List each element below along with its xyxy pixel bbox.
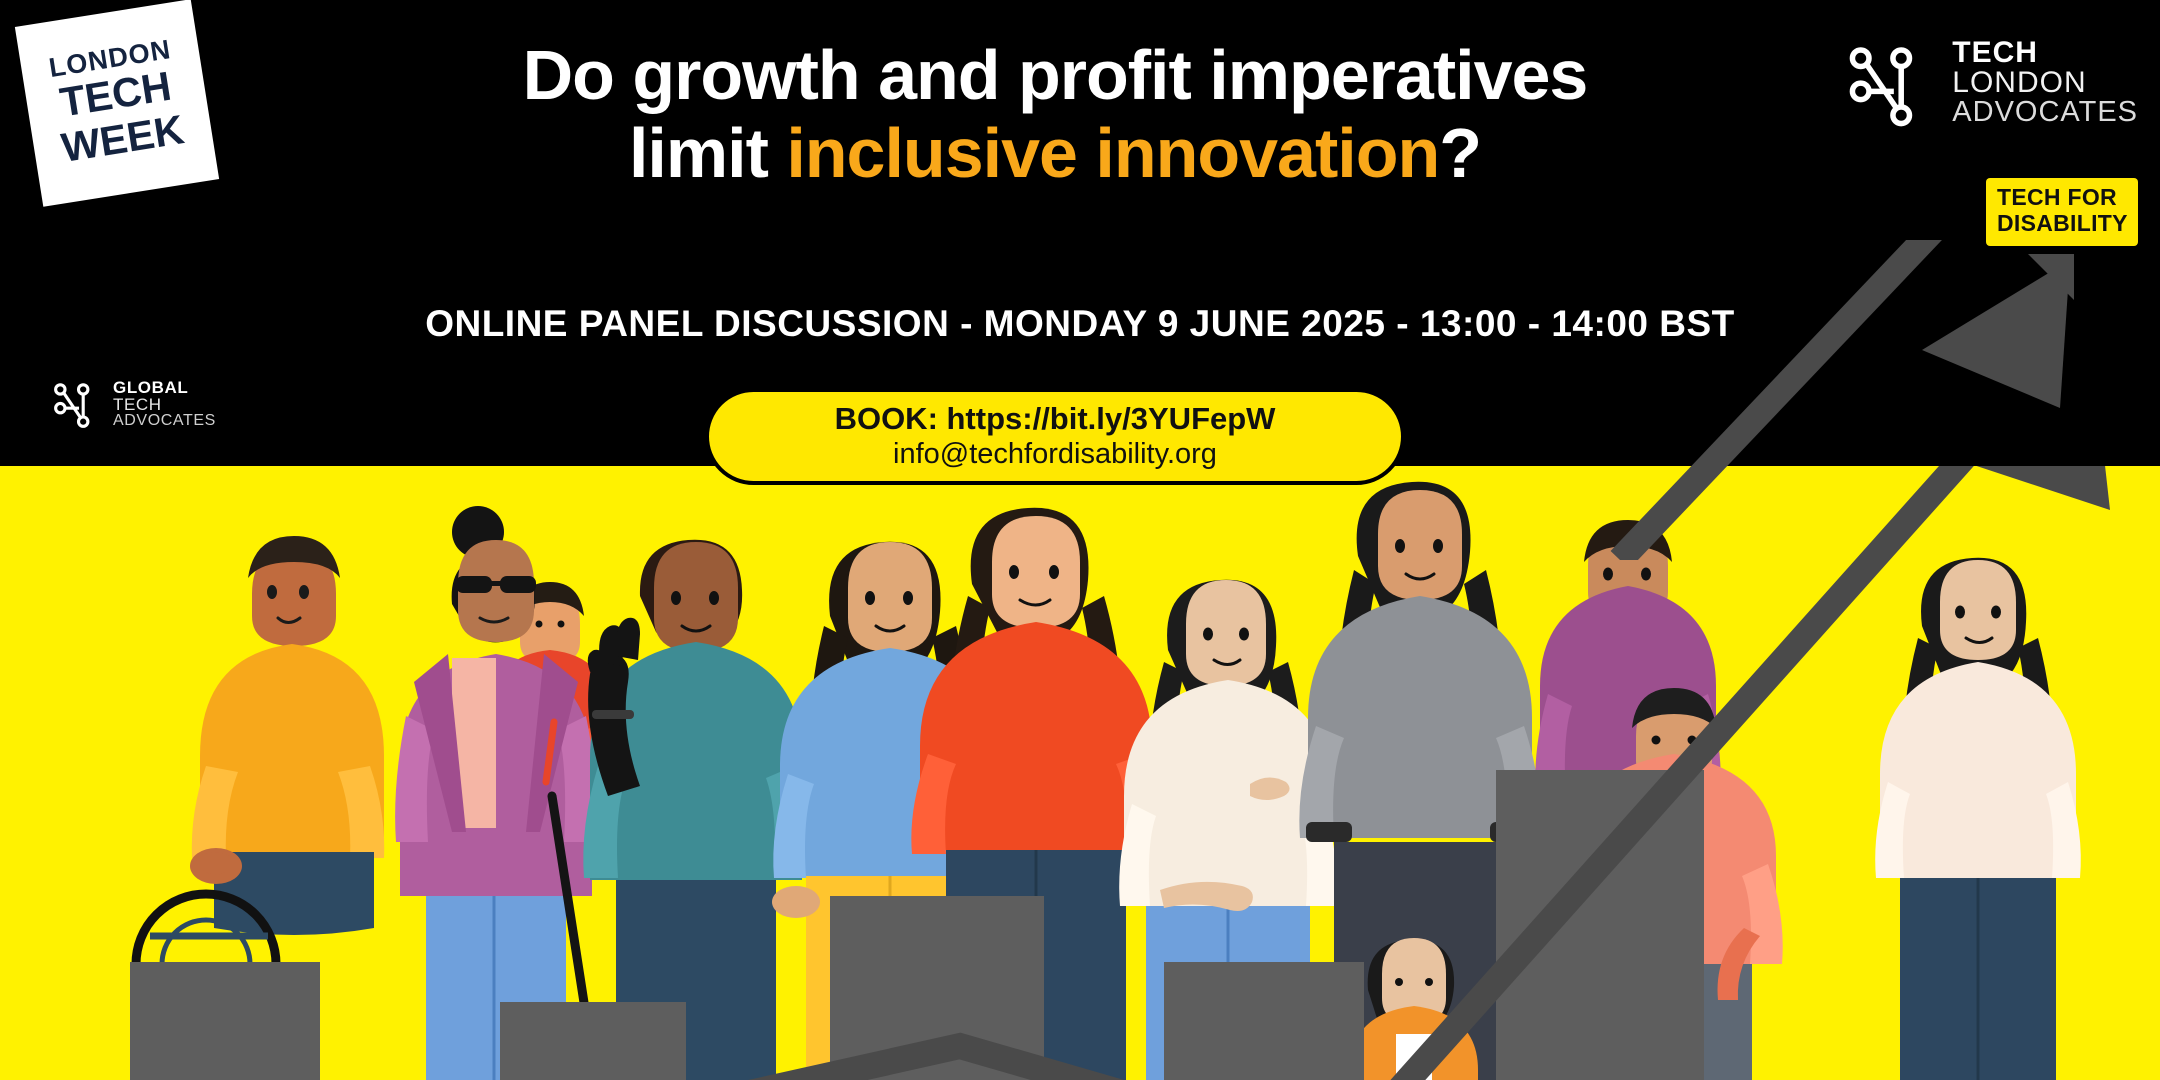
tech-for-disability-badge: TECH FOR DISABILITY xyxy=(1986,178,2138,246)
gta-line-tech: TECH xyxy=(113,396,216,413)
global-tech-advocates-logo: GLOBAL TECH ADVOCATES xyxy=(52,378,216,430)
event-subtitle: ONLINE PANEL DISCUSSION - MONDAY 9 JUNE … xyxy=(60,303,2100,345)
network-nodes-icon xyxy=(52,378,104,430)
event-banner: LONDON TECH WEEK Do growth and profit im… xyxy=(0,0,2160,1080)
booking-email[interactable]: info@techfordisability.org xyxy=(893,437,1217,472)
tfd-badge-line-2: DISABILITY xyxy=(1997,211,2127,237)
headline-line-1: Do growth and profit imperatives xyxy=(300,36,1810,114)
tla-line-tech: TECH xyxy=(1952,38,2138,68)
tla-line-london: LONDON xyxy=(1952,68,2138,98)
headline-line-2: limit inclusive innovation? xyxy=(300,114,1810,192)
tla-line-advocates: ADVOCATES xyxy=(1952,98,2138,127)
illustration-area xyxy=(0,466,2160,1080)
booking-pill[interactable]: BOOK: https://bit.ly/3YUFepW info@techfo… xyxy=(705,388,1405,485)
headline: Do growth and profit imperatives limit i… xyxy=(300,36,1810,193)
tfd-badge-line-1: TECH FOR xyxy=(1997,185,2127,211)
headline-line-2-plain: limit xyxy=(629,114,786,192)
headline-line-2-end: ? xyxy=(1439,114,1481,192)
tech-london-advocates-logo: TECH LONDON ADVOCATES xyxy=(1846,38,2138,130)
headline-accent-text: inclusive innovation xyxy=(786,114,1439,192)
gta-line-global: GLOBAL xyxy=(113,379,216,396)
network-nodes-icon xyxy=(1846,38,1938,130)
gta-line-advocates: ADVOCATES xyxy=(113,413,216,429)
booking-link[interactable]: BOOK: https://bit.ly/3YUFepW xyxy=(835,401,1276,437)
london-tech-week-logo: LONDON TECH WEEK xyxy=(15,0,219,207)
